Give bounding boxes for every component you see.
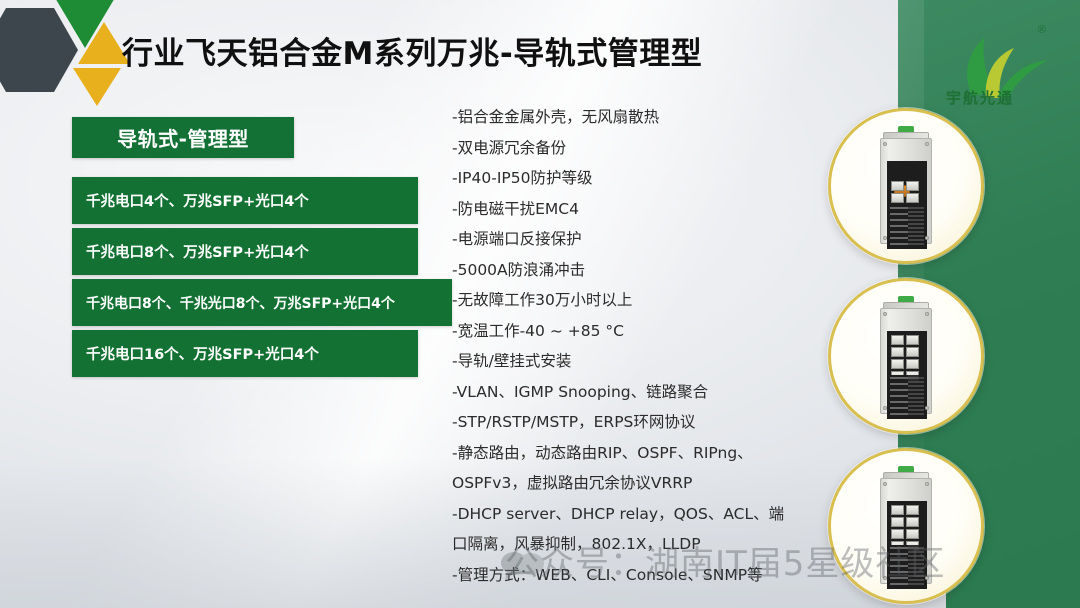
rj45-port xyxy=(891,529,904,539)
rj45-port xyxy=(891,359,904,369)
feature-item: -双电源冗余备份 xyxy=(452,133,782,164)
gold-triangle-down-shape xyxy=(73,68,121,106)
rj45-port xyxy=(906,529,919,539)
vent-grille xyxy=(908,545,924,585)
feature-item: -铝合金金属外壳，无风扇散热 xyxy=(452,102,782,133)
spec-model-row[interactable]: 千兆电口16个、万兆SFP+光口4个 xyxy=(72,330,418,377)
feature-item: -STP/RSTP/MSTP，ERPS环网协议 xyxy=(452,407,782,438)
mount-screw xyxy=(883,406,887,410)
feature-item: -VLAN、IGMP Snooping、链路聚合 xyxy=(452,377,782,408)
switch-device-illustration xyxy=(880,298,932,414)
rj45-port xyxy=(906,335,919,345)
switch-device-illustration xyxy=(880,468,932,584)
feature-item: OSPFv3，虚拟路由冗余协议VRRP xyxy=(452,468,782,499)
feature-item: -5000A防浪涌冲击 xyxy=(452,255,782,286)
device-front-face xyxy=(887,331,927,419)
rj45-port xyxy=(891,181,904,191)
spec-model-row[interactable]: 千兆电口8个、万兆SFP+光口4个 xyxy=(72,228,418,275)
mount-screw xyxy=(925,406,929,410)
rj45-port xyxy=(906,347,919,357)
feature-item: -防电磁干扰EMC4 xyxy=(452,194,782,225)
device-front-face xyxy=(887,161,927,249)
rj45-port xyxy=(906,505,919,515)
device-front-face xyxy=(887,501,927,589)
rj45-port xyxy=(891,517,904,527)
sfp-cage-group xyxy=(890,545,908,585)
spec-panel-heading: 导轨式-管理型 xyxy=(72,117,294,158)
device-body xyxy=(880,138,932,244)
feature-list: -铝合金金属外壳，无风扇散热 -双电源冗余备份 -IP40-IP50防护等级 -… xyxy=(452,102,782,590)
device-body xyxy=(880,478,932,584)
mount-screw xyxy=(925,482,929,486)
spec-model-row[interactable]: 千兆电口8个、千兆光口8个、万兆SFP+光口4个 xyxy=(72,279,452,326)
rj45-port xyxy=(891,505,904,515)
feature-item: -导轨/壁挂式安装 xyxy=(452,346,782,377)
slide-canvas: 行业飞天铝合金M系列万兆-导轨式管理型 ® 宇航光通 导轨式-管理型 千兆电口4… xyxy=(0,0,1080,608)
mount-screw xyxy=(925,576,929,580)
registered-mark: ® xyxy=(1038,24,1046,36)
rj45-port xyxy=(906,181,919,191)
vent-grille xyxy=(908,375,924,415)
feature-item: 口隔离，风暴抑制，802.1X，LLDP xyxy=(452,529,782,560)
feature-item: -管理方式：WEB、CLI、Console、SNMP等 xyxy=(452,560,782,591)
rj45-port-group xyxy=(891,181,919,203)
product-image xyxy=(828,278,984,434)
spec-model-row[interactable]: 千兆电口4个、万兆SFP+光口4个 xyxy=(72,177,418,224)
sfp-cage-group xyxy=(890,205,908,245)
mount-screw xyxy=(883,142,887,146)
mount-screw xyxy=(883,236,887,240)
sfp-cage-group xyxy=(890,375,908,415)
feature-item: -无故障工作30万小时以上 xyxy=(452,285,782,316)
rj45-port xyxy=(906,517,919,527)
product-image xyxy=(828,108,984,264)
feature-item: -静态路由，动态路由RIP、OSPF、RIPng、 xyxy=(452,438,782,469)
mount-screw xyxy=(883,482,887,486)
mount-screw xyxy=(925,236,929,240)
feature-item: -宽温工作-40 ~ +85 °C xyxy=(452,316,782,347)
mount-screw xyxy=(925,312,929,316)
brand-logo: ® 宇航光通 xyxy=(938,18,1068,110)
feature-item: -DHCP server、DHCP relay，QOS、ACL、端 xyxy=(452,499,782,530)
feature-item: -IP40-IP50防护等级 xyxy=(452,163,782,194)
rj45-port xyxy=(906,359,919,369)
switch-device-illustration xyxy=(880,128,932,244)
rj45-port xyxy=(891,193,904,203)
rj45-port xyxy=(906,193,919,203)
mount-screw xyxy=(883,576,887,580)
mount-screw xyxy=(925,142,929,146)
brand-name: 宇航光通 xyxy=(946,87,1014,108)
page-title: 行业飞天铝合金M系列万兆-导轨式管理型 xyxy=(122,28,702,73)
vent-grille xyxy=(908,205,924,245)
mount-screw xyxy=(883,312,887,316)
device-body xyxy=(880,308,932,414)
rj45-port xyxy=(891,335,904,345)
rj45-port xyxy=(891,347,904,357)
feature-item: -电源端口反接保护 xyxy=(452,224,782,255)
product-image xyxy=(828,448,984,604)
